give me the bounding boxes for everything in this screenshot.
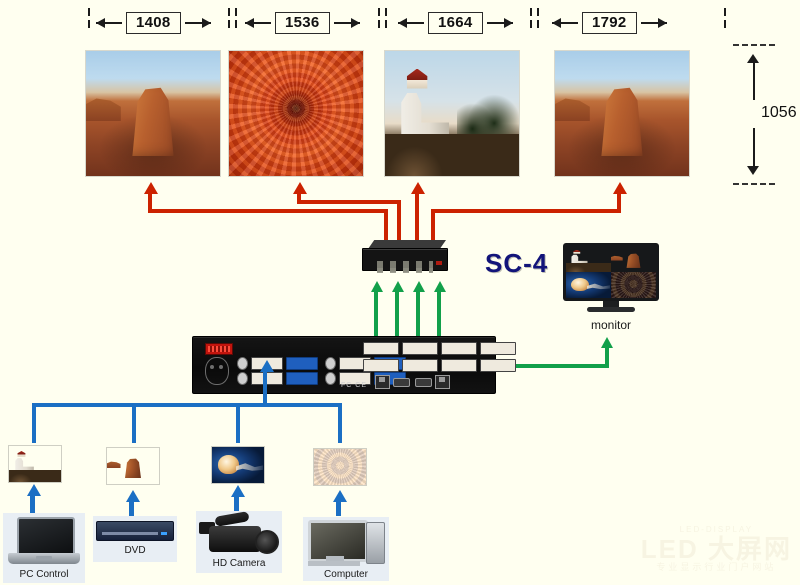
camcorder-icon <box>199 514 279 558</box>
matrix-port-vga[interactable] <box>286 357 318 370</box>
ruler-tick-start <box>88 8 90 32</box>
blue-line-source-3 <box>234 496 239 512</box>
red-arrow-to-display-1 <box>144 182 158 194</box>
sc4-chassis-body <box>362 248 448 271</box>
dimension-segment-1: 1408 <box>96 6 211 40</box>
blue-line-source-1 <box>30 495 35 513</box>
source-thumb-3 <box>211 446 265 484</box>
monitor-device[interactable] <box>563 243 659 315</box>
matrix-output-port[interactable] <box>363 342 399 355</box>
display-panel-4[interactable] <box>554 50 690 177</box>
matrix-output-row-1[interactable] <box>363 342 516 355</box>
matrix-led-display <box>205 343 233 355</box>
blue-branch-4 <box>338 403 342 443</box>
source-caption-2: DVD <box>93 541 177 558</box>
monitor-quad-view <box>566 246 656 298</box>
desktop-pc-icon <box>306 520 386 566</box>
ruler-tick-end <box>724 8 726 32</box>
display-panel-1[interactable] <box>85 50 221 177</box>
matrix-output-row-2[interactable] <box>363 359 516 372</box>
matrix-input-row-a1[interactable] <box>237 357 318 370</box>
matrix-output-port[interactable] <box>402 342 438 355</box>
green-line-3 <box>416 292 420 338</box>
green-arrow-2 <box>392 281 404 292</box>
display-1-image <box>86 51 220 176</box>
ruler-tick-2 <box>378 8 387 32</box>
matrix-output-port[interactable] <box>363 359 399 372</box>
blue-trunk-vertical <box>263 371 267 405</box>
source-caption-4: Computer <box>303 566 389 582</box>
sc4-port-row-2 <box>377 268 433 272</box>
green-arrow-4 <box>434 281 446 292</box>
source-thumb-2 <box>106 447 160 485</box>
monitor-quad-bl <box>566 272 611 298</box>
dimension-segment-3: 1664 <box>398 6 513 40</box>
green-line-2 <box>395 292 399 338</box>
red-path-3-vertical <box>415 194 419 246</box>
vdim-line-bottom <box>753 128 755 166</box>
sc4-label: SC-4 <box>485 248 548 279</box>
matrix-knob <box>237 372 248 385</box>
blue-bus-horizontal <box>32 403 342 407</box>
red-arrow-to-display-3 <box>411 182 425 194</box>
arrow-left-icon <box>245 22 271 24</box>
watermark: LED-DISPLAY LED 大屏网 专业显示行业门户网站 <box>641 526 792 573</box>
monitor-quad-tl <box>566 246 611 272</box>
source-thumb-4 <box>313 448 367 486</box>
arrow-left-icon <box>552 22 578 24</box>
dimension-segment-4: 1792 <box>552 6 667 40</box>
matrix-input-row-a2[interactable] <box>237 372 318 385</box>
arrow-left-icon <box>398 22 424 24</box>
vdim-line-top <box>753 62 755 100</box>
arrow-left-icon <box>96 22 122 24</box>
dimension-label-2: 1536 <box>275 12 330 35</box>
display-panel-3[interactable] <box>384 50 520 177</box>
sc4-power-led <box>436 261 442 265</box>
matrix-power-connector <box>205 357 229 385</box>
vdim-dash-top <box>733 44 775 46</box>
green-line-1 <box>374 292 378 338</box>
matrix-knob <box>325 357 336 370</box>
matrix-output-port[interactable] <box>480 342 516 355</box>
matrix-switcher-device[interactable]: FC CE <box>192 336 496 394</box>
watermark-main: LED 大屏网 <box>641 535 792 564</box>
dimension-segment-2: 1536 <box>245 6 360 40</box>
matrix-rj45-port-1[interactable] <box>375 375 390 389</box>
laptop-icon <box>8 517 80 569</box>
dimension-label-3: 1664 <box>428 12 483 35</box>
arrow-right-icon <box>334 22 360 24</box>
blue-branch-1 <box>32 403 36 443</box>
matrix-serial-port-1[interactable] <box>393 378 410 387</box>
green-arrow-3 <box>413 281 425 292</box>
display-4-image <box>555 51 689 176</box>
red-path-1-horizontal <box>148 209 388 213</box>
blue-branch-2 <box>132 403 136 443</box>
display-2-image <box>229 51 363 176</box>
red-path-2-horizontal <box>297 200 401 204</box>
red-arrow-to-display-2 <box>293 182 307 194</box>
top-dimension-ruler: 1408 1536 1664 1792 <box>0 0 800 44</box>
source-device-pc-control[interactable]: PC Control <box>3 513 85 583</box>
blue-line-source-4 <box>336 501 341 516</box>
source-thumb-1 <box>8 445 62 483</box>
matrix-knob <box>325 372 336 385</box>
matrix-port-vga[interactable] <box>286 372 318 385</box>
sc-4-device[interactable] <box>362 240 450 274</box>
red-path-4-horizontal <box>431 209 621 213</box>
green-arrow-to-monitor <box>601 337 613 348</box>
source-caption-3: HD Camera <box>196 558 282 571</box>
dimension-label-1: 1408 <box>126 12 181 35</box>
matrix-serial-port-2[interactable] <box>415 378 432 387</box>
blue-branch-3 <box>236 403 240 443</box>
display-3-image <box>385 51 519 176</box>
arrow-right-icon <box>487 22 513 24</box>
arrow-right-icon <box>641 22 667 24</box>
green-arrow-1 <box>371 281 383 292</box>
vertical-dimension-marker: 1056 <box>725 42 795 187</box>
source-device-computer[interactable]: Computer <box>303 517 389 581</box>
source-device-hd-camera[interactable]: HD Camera <box>196 511 282 573</box>
dimension-label-4: 1792 <box>582 12 637 35</box>
monitor-base <box>587 307 635 312</box>
arrow-down-icon <box>747 166 759 175</box>
green-line-4 <box>437 292 441 338</box>
matrix-output-port[interactable] <box>441 359 477 372</box>
monitor-quad-br <box>611 272 656 298</box>
dvd-player-icon <box>96 521 174 541</box>
ruler-tick-1 <box>228 8 237 32</box>
ruler-tick-3 <box>530 8 539 32</box>
vertical-dimension-label: 1056 <box>761 104 797 122</box>
matrix-output-port[interactable] <box>480 359 516 372</box>
matrix-cert-marks: FC CE <box>341 382 367 389</box>
monitor-caption: monitor <box>563 318 659 332</box>
matrix-output-port[interactable] <box>402 359 438 372</box>
matrix-rj45-port-2[interactable] <box>435 375 450 389</box>
matrix-port-dvi[interactable] <box>251 372 283 385</box>
vdim-dash-bottom <box>733 183 775 185</box>
display-panel-2[interactable] <box>228 50 364 177</box>
source-caption-1: PC Control <box>3 569 85 582</box>
matrix-output-port[interactable] <box>441 342 477 355</box>
source-device-dvd[interactable]: DVD <box>93 516 177 562</box>
watermark-sub: 专业显示行业门户网站 <box>641 563 792 573</box>
arrow-right-icon <box>185 22 211 24</box>
red-arrow-to-display-4 <box>613 182 627 194</box>
monitor-quad-tr <box>611 246 656 272</box>
green-line-monitor-riser <box>605 348 609 368</box>
matrix-knob <box>237 357 248 370</box>
display-3-rocks <box>385 134 519 177</box>
